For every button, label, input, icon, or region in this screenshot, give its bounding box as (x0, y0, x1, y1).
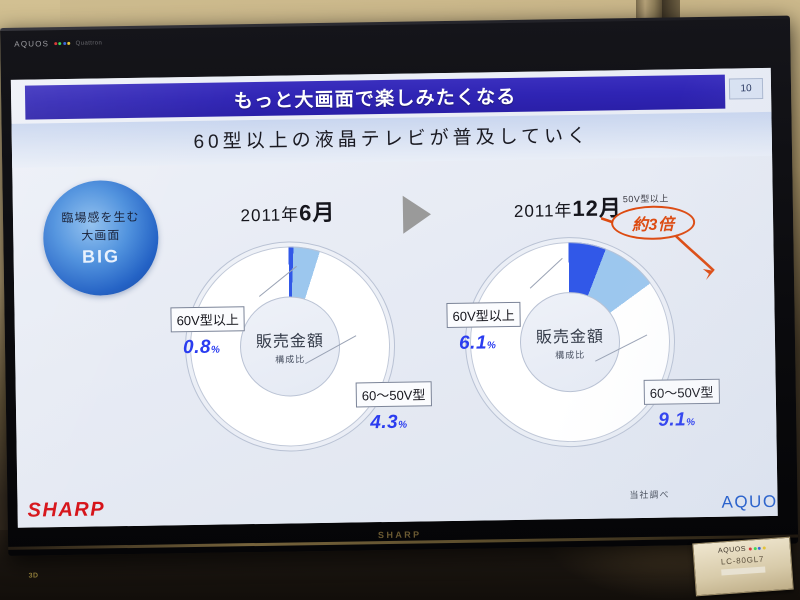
annotation-arrows-icon (601, 190, 773, 303)
tv-3d-badge: 3D (29, 572, 39, 579)
placard-barcode (721, 566, 765, 575)
chart-left-category-60-50v: 60〜50V型 (356, 381, 432, 407)
slide-title: もっと大画面で楽しみたくなる (234, 81, 517, 112)
source-note: 当社調べ (629, 488, 669, 502)
product-placard: AQUOS LC-80GL7 (692, 537, 793, 597)
chart-left-center-label: 販売金額 (256, 327, 324, 352)
chart-left-month: 6月 (299, 200, 336, 226)
quattron-dots-icon (54, 42, 71, 45)
presentation-slide: もっと大画面で楽しみたくなる 10 60型以上の液晶テレビが普及していく 臨場感… (11, 68, 778, 528)
placard-model: LC-80GL7 (721, 555, 765, 567)
chart-right-center-label: 販売金額 (536, 323, 604, 348)
television-set: AQUOS Quattron もっと大画面で楽しみたくなる 10 60型以上の液… (0, 16, 798, 558)
chart-left-year: 2011年 (240, 205, 299, 225)
tv-brand-label: AQUOS (14, 39, 49, 49)
chart-right-value-60v: 6.1% (459, 332, 497, 355)
chart-left-period: 2011年6月 (163, 194, 413, 230)
big-screen-badge: 臨場感を生む 大画面 BIG (42, 180, 159, 297)
chart-left-value-60-50v: 4.3% (370, 412, 408, 435)
tv-brand-badge: AQUOS Quattron (14, 38, 102, 48)
chart-left-center-sublabel: 構成比 (275, 352, 305, 365)
chart-right-category-60-50v: 60〜50V型 (644, 379, 720, 405)
tv-screen: もっと大画面で楽しみたくなる 10 60型以上の液晶テレビが普及していく 臨場感… (11, 68, 778, 528)
placard-brand-row: AQUOS (718, 544, 766, 554)
chart-right-value-60-50v: 9.1% (658, 409, 696, 432)
slide-number-badge: 10 (729, 78, 763, 100)
badge-line-1: 臨場感を生む (61, 208, 139, 226)
placard-dots-icon (749, 546, 766, 550)
chart-left-value-60v: 0.8% (183, 337, 221, 360)
growth-annotation: 50V型以上 約3倍 (601, 190, 773, 303)
tv-subbrand-label: Quattron (76, 40, 103, 46)
chart-right-category-60v: 60V型以上 (446, 302, 521, 328)
badge-line-3: BIG (82, 246, 120, 268)
transition-arrow-icon (403, 195, 432, 233)
tv-bottom-brand: SHARP (378, 529, 422, 540)
aquos-logo: AQUOS (721, 492, 777, 513)
chart-left-category-60v: 60V型以上 (170, 306, 245, 332)
chart-right-year: 2011年 (514, 201, 573, 221)
sharp-logo: SHARP (27, 498, 105, 522)
slide-title-bar: もっと大画面で楽しみたくなる (25, 75, 725, 120)
badge-line-2: 大画面 (81, 226, 120, 244)
chart-right-center-sublabel: 構成比 (555, 348, 585, 361)
placard-brand: AQUOS (718, 546, 747, 555)
chart-2011-06: 2011年6月 販売金額 構成比 60V型以上 0.8% 60〜50V型 (163, 194, 418, 498)
